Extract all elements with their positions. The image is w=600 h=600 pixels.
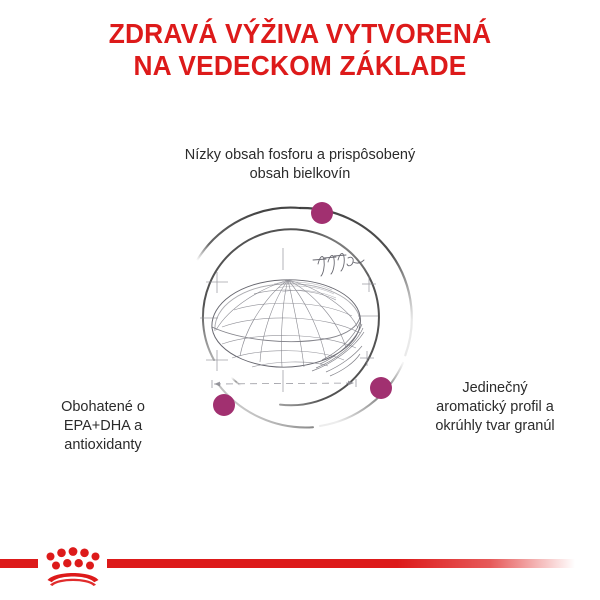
- promo-banner: ZDRAVÁ VÝŽIVA VYTVORENÁ NA VEDECKOM ZÁKL…: [0, 0, 600, 600]
- callout-top-line-1: Nízky obsah fosforu a prispôsobený: [130, 146, 470, 165]
- logo-bar-right: [107, 559, 575, 568]
- handwritten-annotation: [313, 253, 364, 276]
- callout-top-line-2: obsah bielkovín: [130, 165, 470, 184]
- rim-shading: [312, 322, 364, 376]
- kibble-sketch: [200, 248, 378, 392]
- crown-base-arc-2: [50, 579, 96, 586]
- headline-line-1: ZDRAVÁ VÝŽIVA VYTVORENÁ: [18, 18, 582, 50]
- callout-left-line-2: EPA+DHA a: [18, 417, 188, 436]
- inner-ring: [203, 229, 379, 405]
- headline-line-2: NA VEDECKOM ZÁKLADE: [18, 50, 582, 82]
- page-title: ZDRAVÁ VÝŽIVA VYTVORENÁ NA VEDECKOM ZÁKL…: [18, 18, 582, 82]
- kibble-diagram: [170, 188, 430, 448]
- callout-left: Obohatené o EPA+DHA a antioxidanty: [18, 398, 188, 455]
- callout-left-line-3: antioxidanty: [18, 436, 188, 455]
- callout-top: Nízky obsah fosforu a prispôsobený obsah…: [130, 146, 470, 184]
- registration-marks: [200, 248, 378, 392]
- crown-bottom-dots: [52, 559, 94, 570]
- diagram-dot-top[interactable]: [311, 202, 333, 224]
- footer-logo-bar: [0, 540, 600, 600]
- logo-bar-left: [0, 559, 38, 568]
- crown-top-dots: [47, 547, 100, 560]
- kibble-body: [212, 280, 361, 367]
- diagram-dot-right[interactable]: [370, 377, 392, 399]
- kibble-parallels: [222, 290, 360, 367]
- diagram-dot-bottom-left[interactable]: [213, 394, 235, 416]
- callout-left-line-1: Obohatené o: [18, 398, 188, 417]
